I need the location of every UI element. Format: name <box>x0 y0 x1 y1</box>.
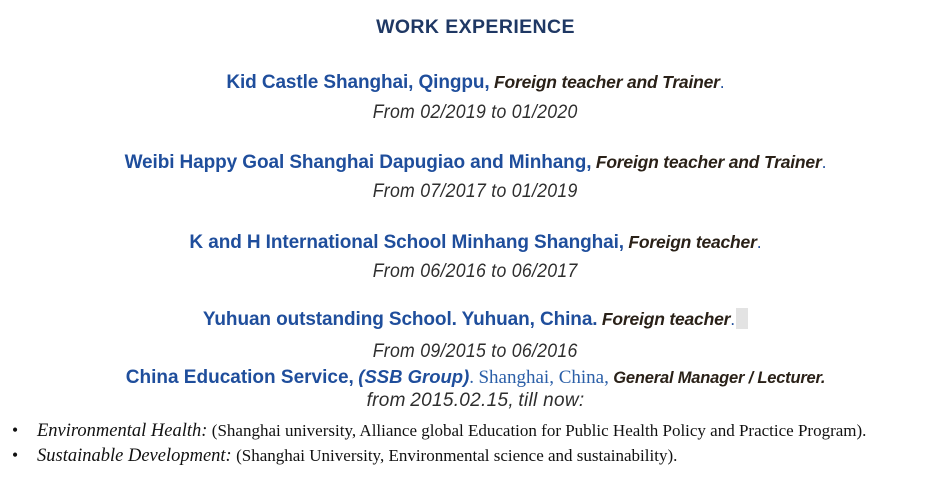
text-selection-artifact <box>736 308 748 329</box>
date-range-4: From 09/2015 to 06/2016 <box>373 341 578 363</box>
job-role-current: General Manager / Lecturer. <box>613 369 825 387</box>
job-role-2: Foreign teacher and Trainer <box>596 152 822 172</box>
experience-entry-1-dates-line: From 02/2019 to 01/2020 <box>0 102 951 124</box>
date-range-2: From 07/2017 to 01/2019 <box>373 181 578 203</box>
bullet-icon: • <box>12 443 18 467</box>
current-entry-dates-line: from 2015.02.15, till now: <box>0 390 951 412</box>
current-entry-header: China Education Service, (SSB Group). Sh… <box>0 366 951 389</box>
experience-entry-1-header: Kid Castle Shanghai, Qingpu, Foreign tea… <box>0 72 951 94</box>
role-punctuation-4: . <box>730 309 735 329</box>
role-punctuation-1: . <box>720 72 725 92</box>
date-range-1: From 02/2019 to 01/2020 <box>373 102 578 124</box>
experience-entry-3-header: K and H International School Minhang Sha… <box>0 232 951 254</box>
till-now-label: till now: <box>518 390 584 411</box>
experience-entry-3-dates-line: From 06/2016 to 06/2017 <box>0 261 951 283</box>
role-punctuation-2: . <box>822 152 827 172</box>
job-role-3: Foreign teacher <box>628 232 756 252</box>
employer-name-current: China Education Service, <box>126 367 354 388</box>
experience-entry-4-dates-line: From 09/2015 to 06/2016 <box>0 341 951 363</box>
list-item: •Sustainable Development: (Shanghai Univ… <box>0 443 951 468</box>
employer-name-3: K and H International School Minhang Sha… <box>189 232 624 253</box>
employer-city-current: Shanghai, China, <box>478 367 608 388</box>
program-detail-2: (Shanghai University, Environmental scie… <box>236 446 677 465</box>
program-topic-1: Environmental Health: <box>37 421 207 441</box>
role-punctuation-3: . <box>757 232 762 252</box>
program-topic-2: Sustainable Development: <box>37 446 232 466</box>
list-item: •Environmental Health: (Shanghai univers… <box>0 418 951 443</box>
from-label: from <box>367 390 406 411</box>
document-page: WORK EXPERIENCE Kid Castle Shanghai, Qin… <box>0 0 951 481</box>
program-list: •Environmental Health: (Shanghai univers… <box>0 418 951 468</box>
bullet-icon: • <box>12 418 18 442</box>
experience-entry-4-header: Yuhuan outstanding School. Yuhuan, China… <box>0 308 951 331</box>
employer-name-4: Yuhuan outstanding School. Yuhuan, China… <box>203 309 598 330</box>
date-range-3: From 06/2016 to 06/2017 <box>373 261 578 283</box>
start-date-value: 2015.02.15, <box>410 390 514 411</box>
employer-name-1: Kid Castle Shanghai, Qingpu, <box>226 72 489 93</box>
experience-entry-2-header: Weibi Happy Goal Shanghai Dapugiao and M… <box>0 152 951 174</box>
job-role-1: Foreign teacher and Trainer <box>494 72 720 92</box>
employer-name-2: Weibi Happy Goal Shanghai Dapugiao and M… <box>125 152 592 173</box>
section-title-work-experience: WORK EXPERIENCE <box>0 16 951 39</box>
employer-group-current: (SSB Group) <box>358 366 469 387</box>
program-detail-1: (Shanghai university, Alliance global Ed… <box>212 421 867 440</box>
experience-entry-2-dates-line: From 07/2017 to 01/2019 <box>0 181 951 203</box>
job-role-4: Foreign teacher <box>602 309 730 329</box>
